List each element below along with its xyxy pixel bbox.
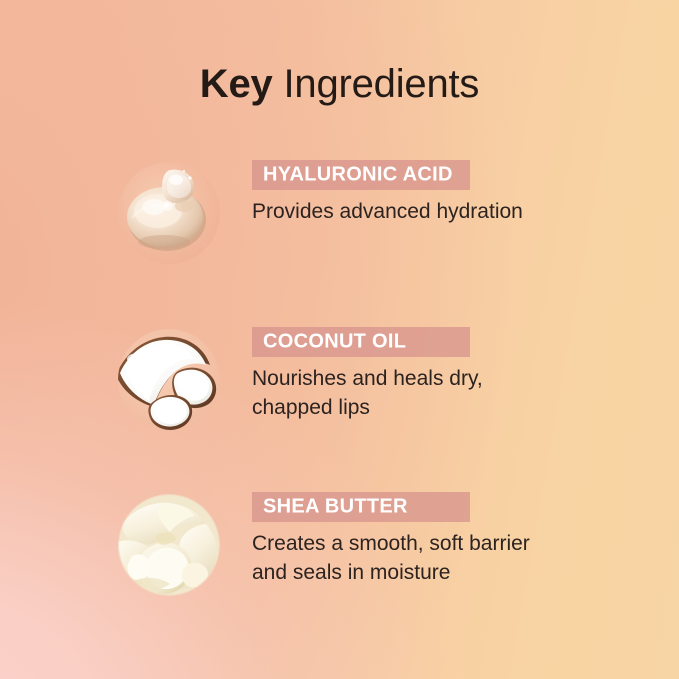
page-title-light: Ingredients (273, 62, 480, 106)
ingredient-thumbnail-hyaluronic-acid (118, 162, 220, 264)
ingredient-description: Provides advanced hydration (252, 198, 582, 227)
ingredient-label: HYALURONIC ACID (263, 164, 453, 187)
ingredient-text-shea-butter: SHEA BUTTER Creates a smooth, soft barri… (252, 492, 582, 588)
ingredient-label: SHEA BUTTER (263, 496, 408, 519)
page-title: Key Ingredients (0, 62, 679, 107)
ingredient-label: COCONUT OIL (263, 331, 406, 354)
key-ingredients-infographic: Key Ingredients (0, 0, 679, 679)
ingredient-thumbnail-coconut-oil (118, 329, 220, 431)
ingredient-label-bar: COCONUT OIL (252, 327, 470, 357)
ingredient-thumbnail-shea-butter (118, 494, 220, 596)
shea-butter-chunks-photo (118, 494, 220, 596)
page-title-strong: Key (200, 62, 273, 106)
ingredient-row: COCONUT OIL Nourishes and heals dry, cha… (0, 327, 679, 447)
ingredient-row: SHEA BUTTER Creates a smooth, soft barri… (0, 492, 679, 612)
ingredient-text-coconut-oil: COCONUT OIL Nourishes and heals dry, cha… (252, 327, 582, 423)
ingredient-row: HYALURONIC ACID Provides advanced hydrat… (0, 160, 679, 280)
ingredient-description: Nourishes and heals dry, chapped lips (252, 365, 582, 423)
hyaluronic-acid-gel-droplet-photo (118, 162, 220, 264)
coconut-pieces-photo (118, 329, 220, 431)
ingredient-label-bar: HYALURONIC ACID (252, 160, 470, 190)
ingredient-text-hyaluronic-acid: HYALURONIC ACID Provides advanced hydrat… (252, 160, 582, 227)
ingredient-description: Creates a smooth, soft barrier and seals… (252, 530, 582, 588)
ingredient-label-bar: SHEA BUTTER (252, 492, 470, 522)
